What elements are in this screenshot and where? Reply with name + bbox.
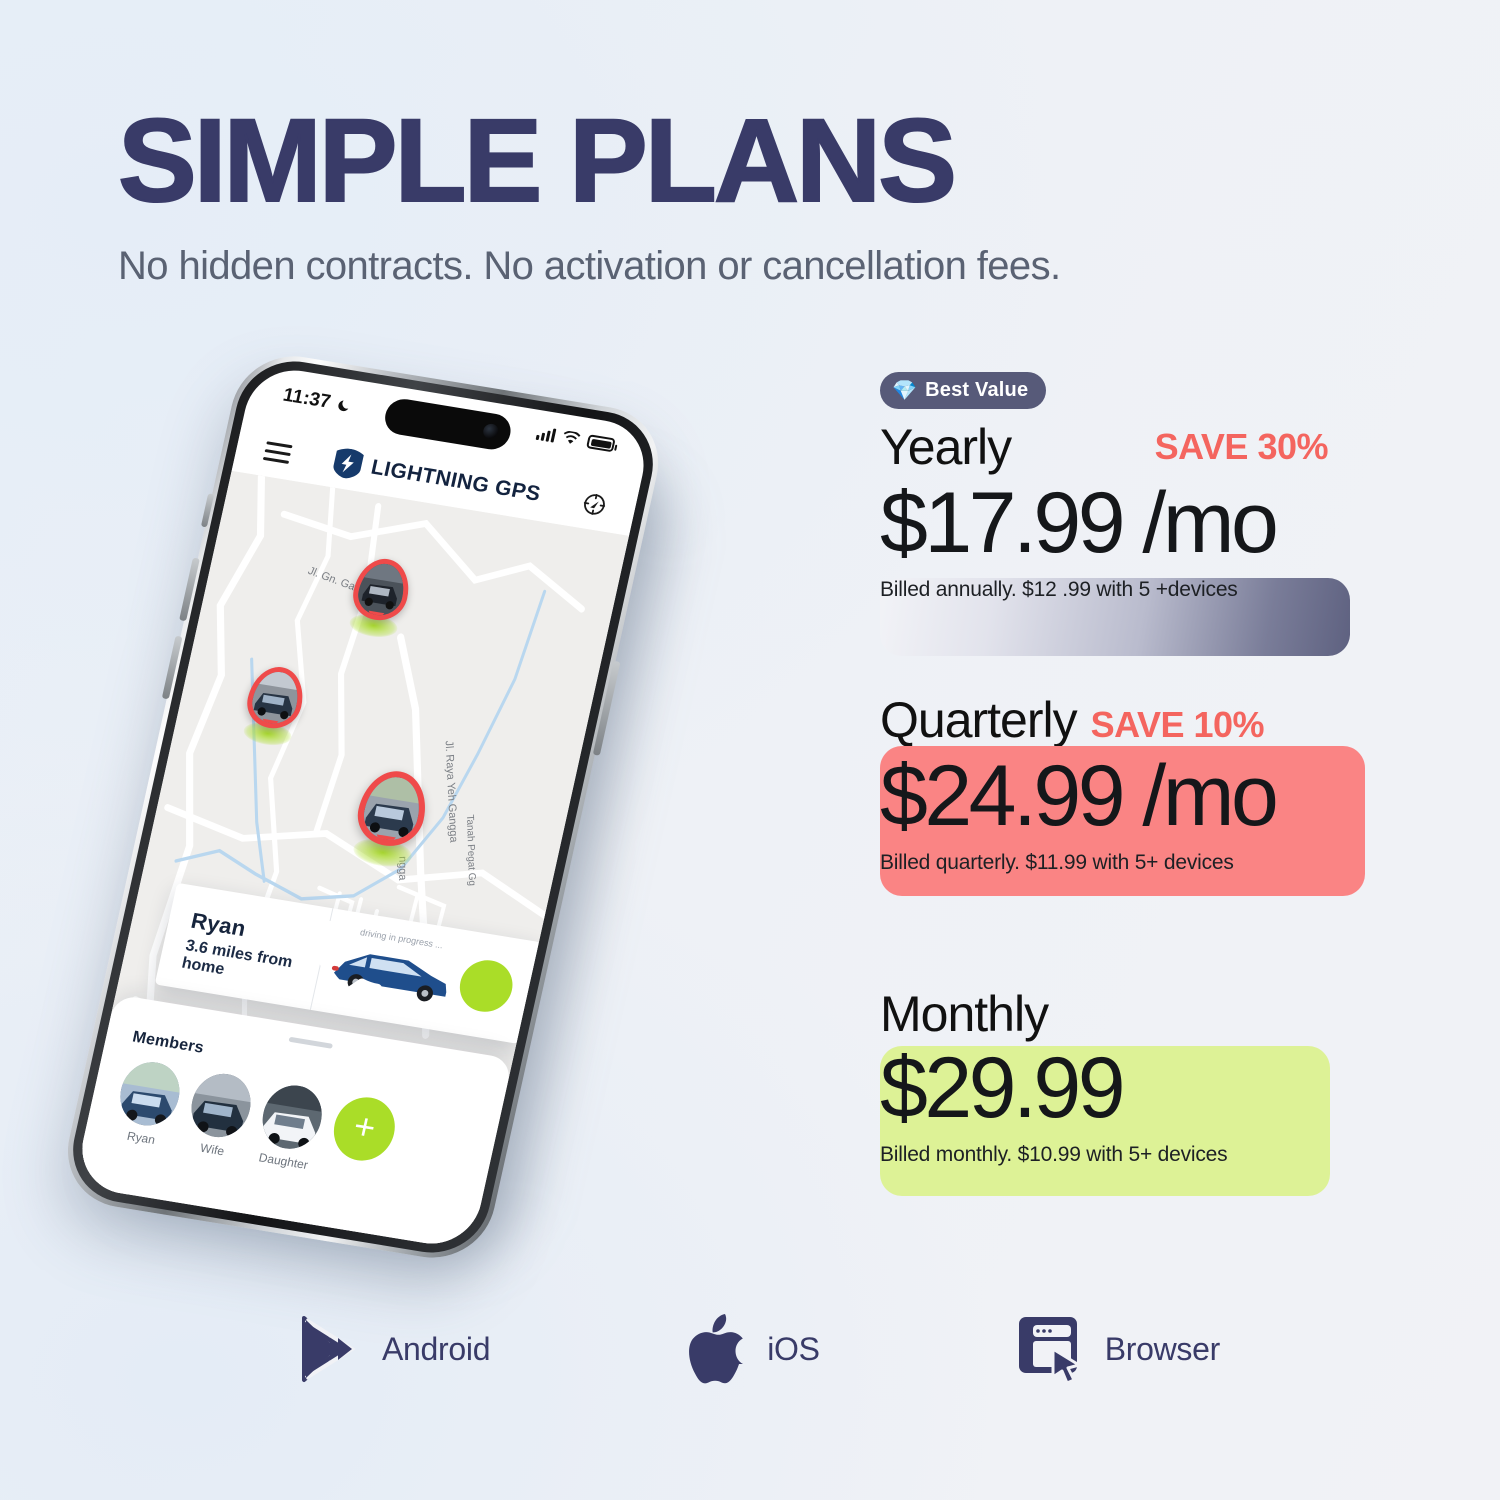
wifi-icon — [560, 430, 582, 447]
plan-fineprint-yearly: Billed annually. $12 .99 with 5 +devices — [880, 578, 1350, 602]
best-value-label: Best Value — [925, 379, 1028, 402]
member-item[interactable]: Wife — [181, 1070, 258, 1162]
plan-name-yearly: Yearly — [880, 421, 1011, 474]
plan-price-monthly: $29.99 — [880, 1045, 1350, 1131]
browser-window-icon — [1017, 1313, 1087, 1385]
street-label: Tanah Pegat Gg — [464, 814, 477, 886]
crescent-moon-icon — [334, 396, 353, 414]
member-label: Ryan — [110, 1126, 172, 1149]
pricing-plans: 💎 Best Value Yearly SAVE 30% $17.99 /mo … — [880, 372, 1350, 1248]
platform-label-browser: Browser — [1105, 1331, 1220, 1368]
avatar — [114, 1058, 185, 1130]
plan-save-quarterly: SAVE 10% — [1091, 704, 1264, 746]
diamond-icon: 💎 — [892, 381, 917, 401]
best-value-badge: 💎 Best Value — [880, 372, 1046, 409]
add-member-button[interactable]: + — [328, 1093, 401, 1165]
page-header: SIMPLE PLANS No hidden contracts. No act… — [118, 105, 1378, 289]
member-label: Daughter — [252, 1150, 314, 1173]
platform-label-ios: iOS — [767, 1331, 819, 1368]
plan-card-quarterly[interactable]: Quarterly SAVE 10% $24.99 /mo Billed qua… — [880, 694, 1350, 974]
suv-photo-icon — [354, 561, 409, 619]
plan-price-quarterly: $24.99 /mo — [880, 753, 1350, 839]
android-play-icon — [300, 1314, 364, 1384]
page-title: SIMPLE PLANS — [118, 105, 1378, 218]
page-subtitle: No hidden contracts. No activation or ca… — [118, 244, 1378, 289]
member-item[interactable]: Ryan — [110, 1058, 187, 1150]
plan-name-quarterly: Quarterly — [880, 694, 1077, 747]
plan-card-yearly[interactable]: 💎 Best Value Yearly SAVE 30% $17.99 /mo … — [880, 372, 1350, 672]
member-photo-icon — [185, 1070, 256, 1142]
member-photo-icon — [257, 1081, 328, 1153]
plan-card-monthly[interactable]: Monthly $29.99 Billed monthly. $10.99 wi… — [880, 988, 1350, 1248]
dynamic-island — [382, 397, 514, 453]
plan-save-yearly: SAVE 30% — [1155, 426, 1328, 468]
member-item[interactable]: Daughter — [252, 1081, 329, 1173]
avatar — [257, 1081, 328, 1153]
plan-price-yearly: $17.99 /mo — [880, 480, 1350, 566]
lightning-bolt-icon — [329, 446, 365, 480]
compass-icon[interactable] — [580, 490, 610, 518]
phone-frame: 11:37 — [56, 348, 669, 1267]
phone-mockup: 11:37 — [148, 372, 788, 1272]
platform-browser[interactable]: Browser — [1017, 1313, 1220, 1385]
status-time: 11:37 — [281, 385, 333, 414]
cellular-signal-icon — [536, 426, 557, 443]
battery-icon — [586, 434, 616, 452]
apple-icon — [687, 1312, 749, 1386]
suv-photo-icon — [248, 669, 303, 727]
avatar — [185, 1070, 256, 1142]
hamburger-menu-icon[interactable] — [262, 436, 294, 469]
member-label: Wife — [181, 1138, 243, 1161]
plan-name-monthly: Monthly — [880, 988, 1048, 1041]
platform-label-android: Android — [382, 1331, 490, 1368]
map-view[interactable]: Jl. Gn. Gatur Jl. Raya Yeh Gangga Tanah … — [73, 471, 629, 1251]
call-button[interactable] — [455, 956, 518, 1015]
front-camera-icon — [482, 423, 500, 440]
plan-fineprint-monthly: Billed monthly. $10.99 with 5+ devices — [880, 1143, 1350, 1167]
sheet-grabber[interactable] — [288, 1037, 333, 1049]
plan-fineprint-quarterly: Billed quarterly. $11.99 with 5+ devices — [880, 851, 1350, 875]
platform-android[interactable]: Android — [300, 1314, 490, 1384]
platform-ios[interactable]: iOS — [687, 1312, 819, 1386]
member-photo-icon — [114, 1058, 185, 1130]
platform-list: Android iOS Browser — [300, 1312, 1220, 1386]
phone-screen: 11:37 — [73, 363, 653, 1250]
plus-icon: + — [350, 1108, 379, 1147]
